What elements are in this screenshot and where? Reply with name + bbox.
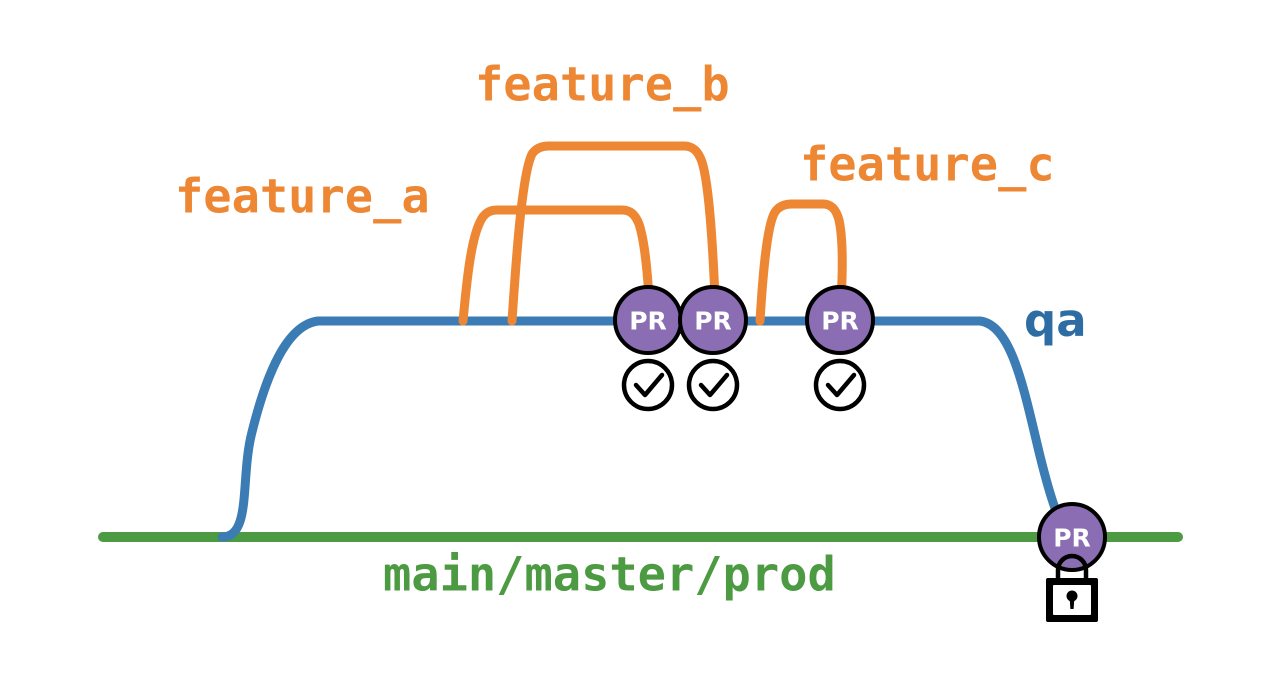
- feature-a-label: feature_a: [175, 170, 430, 225]
- pr-node-2[interactable]: PR: [680, 287, 746, 353]
- check-circle-icon: [624, 361, 672, 409]
- pr-node-3[interactable]: PR: [807, 287, 873, 353]
- pr-node-1[interactable]: PR: [615, 287, 681, 353]
- check-circle-icon: [816, 361, 864, 409]
- pr-node-4[interactable]: PR: [1039, 504, 1105, 570]
- git-branching-diagram: PR PR PR PR: [0, 0, 1288, 678]
- pr-node-4-label: PR: [1053, 524, 1091, 553]
- feature-b-branch-line: [512, 146, 715, 321]
- feature-b-label: feature_b: [475, 58, 730, 113]
- main-branch-label: main/master/prod: [383, 548, 836, 603]
- check-circle-icon: [689, 361, 737, 409]
- feature-c-label: feature_c: [800, 138, 1055, 193]
- pr-node-3-label: PR: [821, 307, 859, 336]
- qa-label: qa: [1024, 294, 1087, 347]
- pr-node-2-label: PR: [694, 307, 732, 336]
- pr-node-1-label: PR: [629, 307, 667, 336]
- branch-graph-svg: PR PR PR PR: [0, 0, 1288, 678]
